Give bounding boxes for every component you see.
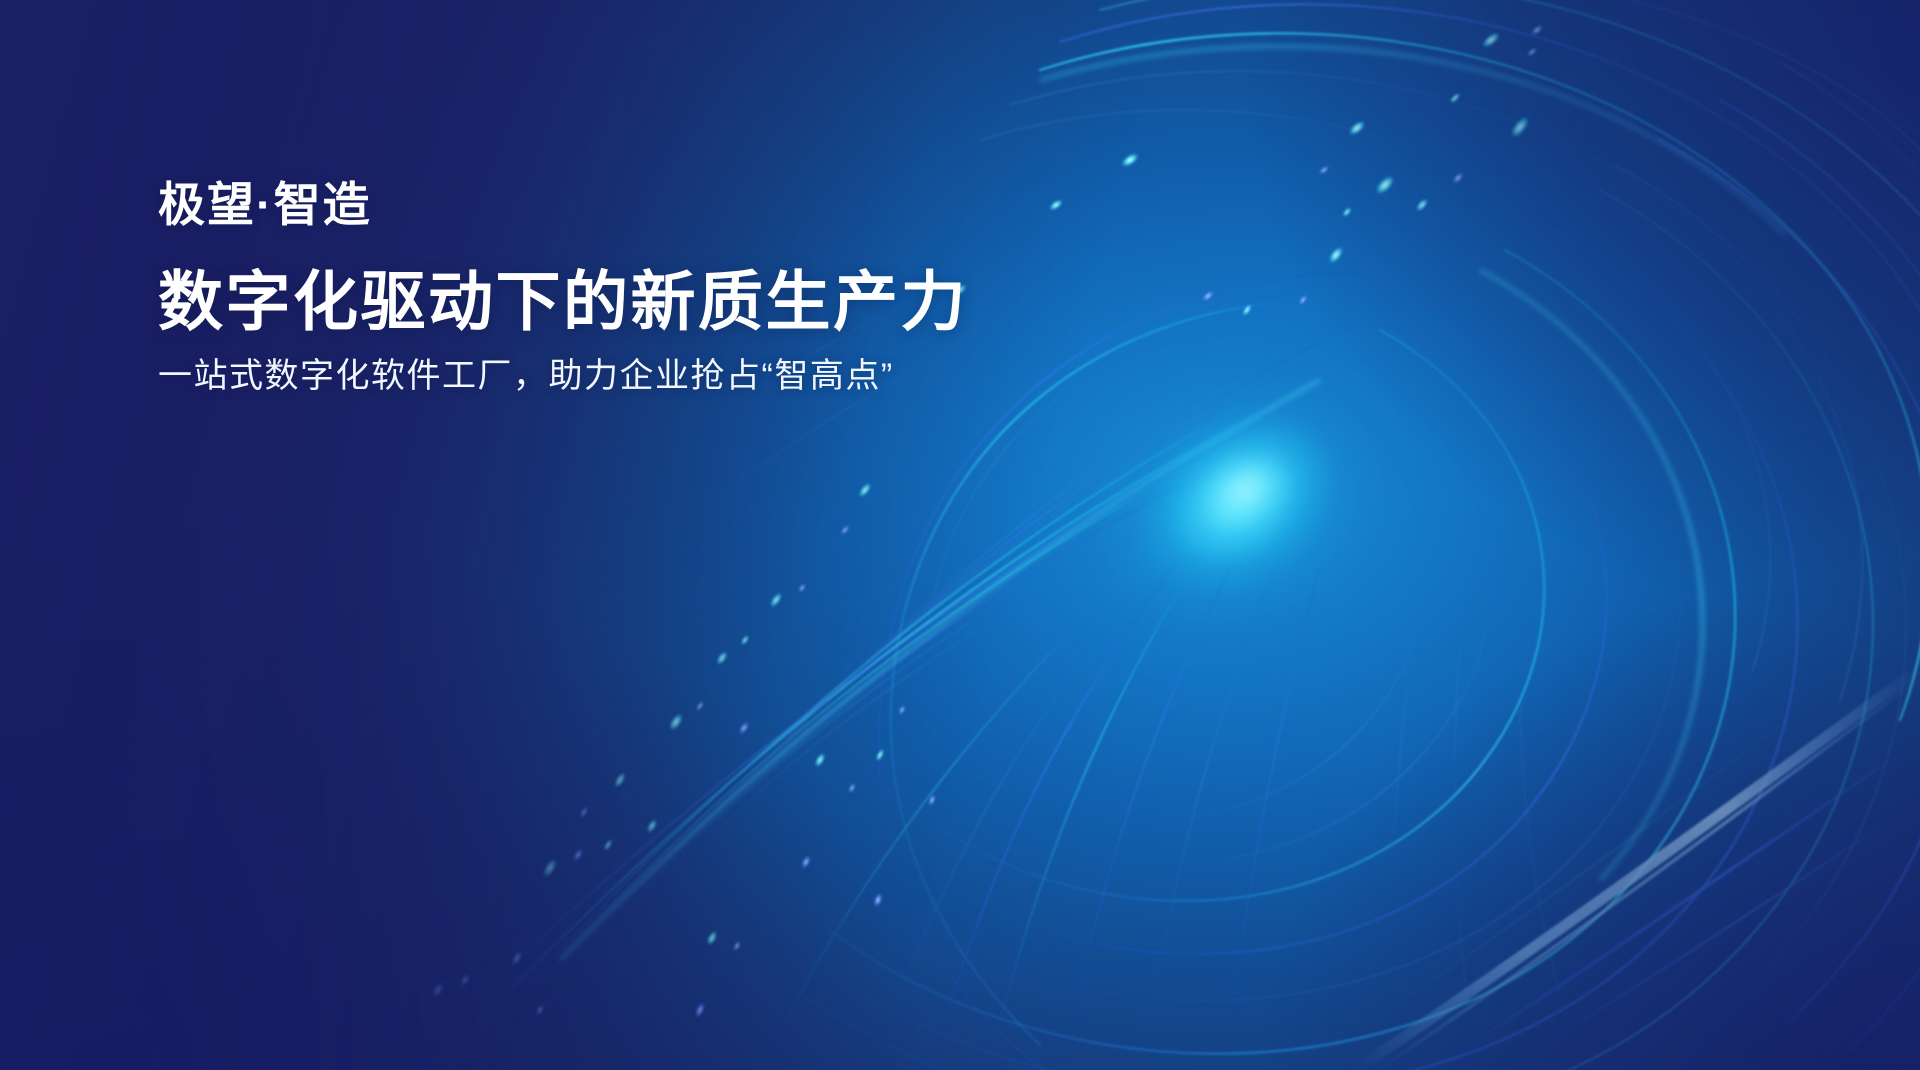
hero-text-block: 极望·智造 数字化驱动下的新质生产力 一站式数字化软件工厂，助力企业抢占“智高点… (158, 176, 1158, 398)
hero-subheadline: 一站式数字化软件工厂，助力企业抢占“智高点” (158, 354, 1158, 398)
hero-headline: 数字化驱动下的新质生产力 (158, 265, 1158, 340)
banner-stage: 极望·智造 数字化驱动下的新质生产力 一站式数字化软件工厂，助力企业抢占“智高点… (0, 0, 1920, 1070)
bottom-left-navy-overlay (0, 0, 1920, 1070)
brand-eyebrow: 极望·智造 (158, 176, 1158, 233)
